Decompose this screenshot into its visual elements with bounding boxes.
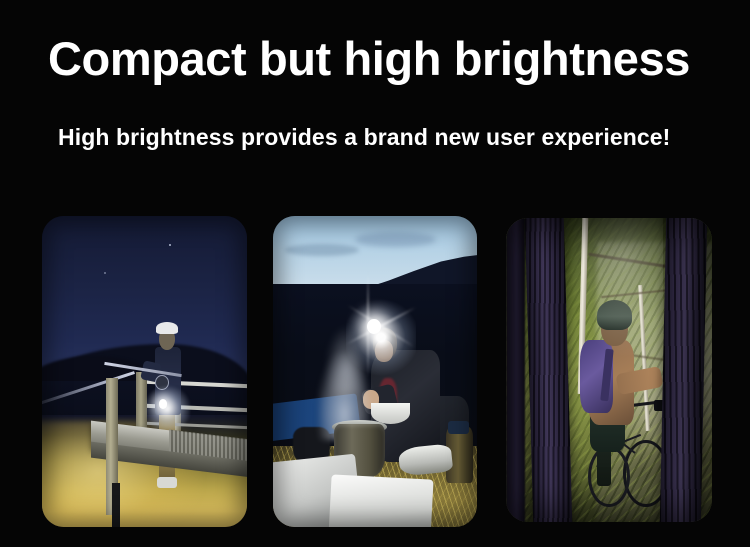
vignette — [506, 218, 712, 522]
promo-banner: Compact but high brightness High brightn… — [0, 0, 750, 547]
image-panel-mountain-biking — [506, 218, 712, 522]
scene-camp-cooking-headlamp — [273, 216, 477, 527]
vignette — [273, 216, 477, 527]
image-panel-night-fishing — [42, 216, 247, 527]
page-subtitle: High brightness provides a brand new use… — [58, 122, 670, 152]
page-title: Compact but high brightness — [48, 31, 690, 87]
scene-night-dock-fishing — [42, 216, 247, 527]
image-panel-camp-cooking — [273, 216, 477, 527]
scene-forest-mountain-biking — [506, 218, 712, 522]
vignette — [42, 216, 247, 527]
